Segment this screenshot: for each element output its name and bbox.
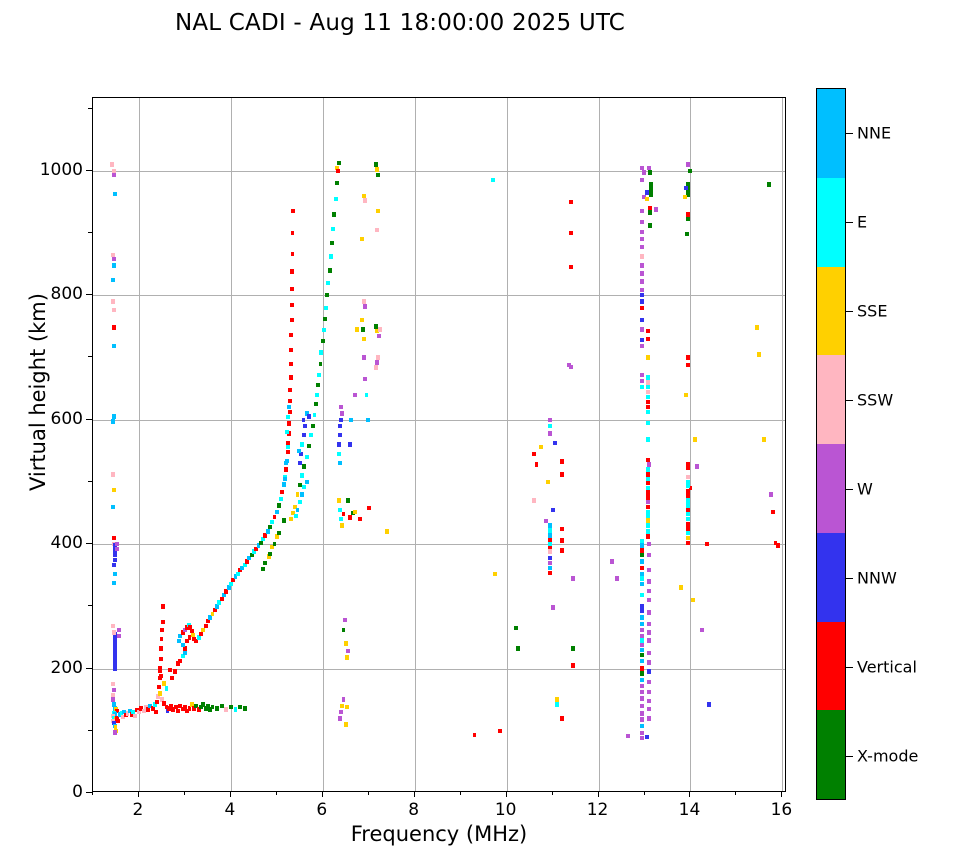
colorbar-tick xyxy=(846,222,853,223)
echo-point xyxy=(211,612,215,616)
echo-point xyxy=(555,697,559,701)
echo-point xyxy=(273,542,277,546)
y-tick xyxy=(86,543,92,544)
echo-point xyxy=(700,628,704,632)
echo-point xyxy=(610,559,614,563)
echo-point xyxy=(640,666,644,670)
x-tick-label: 14 xyxy=(659,800,719,820)
echo-point xyxy=(548,561,552,565)
echo-point xyxy=(769,492,773,496)
echo-point xyxy=(560,527,564,531)
echo-point xyxy=(686,212,690,216)
echo-point xyxy=(376,173,380,177)
echo-point xyxy=(771,510,775,514)
echo-point xyxy=(362,355,366,359)
echo-point xyxy=(254,547,258,551)
echo-point xyxy=(640,731,644,735)
echo-point xyxy=(313,413,317,417)
echo-point xyxy=(374,324,378,328)
echo-point xyxy=(113,572,117,576)
echo-point xyxy=(286,415,290,419)
x-tick-minor xyxy=(276,792,277,795)
echo-point xyxy=(362,337,366,341)
colorbar-tick xyxy=(846,133,853,134)
echo-point xyxy=(640,684,644,688)
echo-point xyxy=(683,195,687,199)
echo-point xyxy=(243,706,247,710)
echo-point xyxy=(647,589,651,593)
echo-point xyxy=(197,635,201,639)
echo-point xyxy=(288,410,292,414)
echo-point xyxy=(571,576,575,580)
echo-point xyxy=(544,519,548,523)
echo-point xyxy=(243,563,247,567)
echo-point xyxy=(640,230,644,234)
echo-point xyxy=(111,278,115,282)
echo-point xyxy=(532,498,536,502)
x-tick-minor xyxy=(184,792,185,795)
echo-point xyxy=(548,431,552,435)
echo-point xyxy=(112,173,116,177)
echo-point xyxy=(646,337,650,341)
echo-point xyxy=(640,671,644,675)
gridline-vertical xyxy=(323,98,324,791)
echo-point xyxy=(224,707,228,711)
echo-point xyxy=(684,393,688,397)
echo-point xyxy=(640,724,644,728)
echo-point xyxy=(289,333,293,337)
echo-point xyxy=(553,441,557,445)
echo-point xyxy=(208,615,212,619)
echo-point xyxy=(548,556,552,560)
echo-point xyxy=(686,363,690,367)
echo-point xyxy=(325,293,329,297)
echo-point xyxy=(640,306,644,310)
echo-point xyxy=(647,462,651,466)
echo-point xyxy=(337,442,341,446)
echo-point xyxy=(646,385,650,389)
echo-point xyxy=(345,655,349,659)
echo-point xyxy=(291,209,295,213)
echo-point xyxy=(640,293,644,297)
echo-point xyxy=(569,200,573,204)
echo-point xyxy=(162,681,166,685)
colorbar-segment-e xyxy=(817,178,845,267)
echo-point xyxy=(640,615,644,619)
echo-point xyxy=(645,197,649,201)
echo-point xyxy=(297,449,301,453)
echo-point xyxy=(340,411,344,415)
echo-point xyxy=(647,553,651,557)
x-tick xyxy=(138,792,139,797)
echo-point xyxy=(183,651,187,655)
echo-point xyxy=(640,593,644,597)
echo-point xyxy=(330,241,334,245)
x-tick-minor xyxy=(368,792,369,795)
echo-point xyxy=(282,518,286,522)
gridline-horizontal xyxy=(93,544,785,545)
echo-point xyxy=(111,419,115,423)
colorbar-segment-nnw xyxy=(817,533,845,622)
echo-point xyxy=(160,628,164,632)
echo-point xyxy=(289,362,293,366)
x-tick xyxy=(689,792,690,797)
echo-point xyxy=(266,529,270,533)
echo-point xyxy=(548,424,552,428)
y-tick-minor xyxy=(88,232,92,233)
echo-point xyxy=(250,553,254,557)
echo-point xyxy=(647,166,651,170)
echo-point xyxy=(157,685,161,689)
echo-point xyxy=(679,585,683,589)
gridline-horizontal xyxy=(93,171,785,172)
echo-point xyxy=(291,231,295,235)
colorbar-tick-label-ssw: SSW xyxy=(857,390,893,409)
y-tick-label: 600 xyxy=(51,409,83,429)
echo-point xyxy=(290,269,294,273)
echo-point xyxy=(263,561,267,565)
echo-point xyxy=(646,534,650,538)
echo-point xyxy=(646,523,650,527)
echo-point xyxy=(374,365,378,369)
echo-point xyxy=(686,512,690,516)
echo-point xyxy=(686,484,690,488)
echo-point xyxy=(113,730,117,734)
y-tick xyxy=(86,419,92,420)
echo-point xyxy=(275,534,279,538)
gridline-horizontal xyxy=(93,420,785,421)
echo-point xyxy=(647,660,651,664)
echo-point xyxy=(647,716,651,720)
echo-point xyxy=(548,523,552,527)
echo-point xyxy=(277,503,281,507)
colorbar-tick xyxy=(846,578,853,579)
echo-point xyxy=(366,418,370,422)
echo-point xyxy=(113,651,117,655)
echo-point xyxy=(112,308,116,312)
echo-point xyxy=(160,637,164,641)
echo-point xyxy=(640,711,644,715)
echo-point xyxy=(642,170,646,174)
echo-point xyxy=(165,686,169,690)
echo-point xyxy=(194,639,198,643)
echo-point xyxy=(647,690,651,694)
echo-point xyxy=(757,352,761,356)
echo-point xyxy=(317,373,321,377)
echo-point xyxy=(640,166,644,170)
echo-point xyxy=(215,604,219,608)
echo-point xyxy=(283,477,287,481)
echo-point xyxy=(155,700,159,704)
echo-point xyxy=(314,402,318,406)
echo-point xyxy=(340,704,344,708)
echo-point xyxy=(684,186,688,190)
echo-point xyxy=(181,643,185,647)
echo-point xyxy=(277,531,281,535)
echo-point xyxy=(640,696,644,700)
echo-point xyxy=(339,517,343,521)
echo-point xyxy=(362,194,366,198)
echo-point xyxy=(767,182,771,186)
echo-point xyxy=(178,659,182,663)
echo-point xyxy=(338,461,342,465)
echo-point xyxy=(342,628,346,632)
echo-point xyxy=(338,424,342,428)
echo-point xyxy=(220,704,224,708)
echo-point xyxy=(640,582,644,586)
echo-point xyxy=(117,634,121,638)
echo-point xyxy=(224,589,228,593)
x-tick xyxy=(598,792,599,797)
colorbar xyxy=(816,88,846,800)
echo-point xyxy=(649,187,653,191)
echo-point xyxy=(686,536,690,540)
echo-point xyxy=(345,705,349,709)
x-tick-label: 12 xyxy=(568,800,628,820)
echo-point xyxy=(229,582,233,586)
echo-point xyxy=(551,508,555,512)
echo-point xyxy=(111,624,115,628)
echo-point xyxy=(286,450,290,454)
echo-point xyxy=(375,360,379,364)
echo-point xyxy=(298,483,302,487)
echo-point xyxy=(363,304,367,308)
echo-point xyxy=(375,228,379,232)
echo-point xyxy=(640,736,644,740)
x-tick-label: 8 xyxy=(384,800,444,820)
echo-point xyxy=(648,170,652,174)
x-axis-label: Frequency (MHz) xyxy=(92,822,786,846)
echo-point xyxy=(686,493,690,497)
echo-point xyxy=(645,735,649,739)
echo-point xyxy=(111,472,115,476)
echo-point xyxy=(161,604,165,608)
echo-point xyxy=(112,488,116,492)
echo-point xyxy=(220,597,224,601)
echo-point xyxy=(298,461,302,465)
echo-point xyxy=(548,528,552,532)
echo-point xyxy=(307,414,311,418)
echo-point xyxy=(263,533,267,537)
echo-point xyxy=(342,512,346,516)
echo-point xyxy=(385,529,389,533)
x-tick xyxy=(506,792,507,797)
echo-point xyxy=(363,198,367,202)
echo-point xyxy=(647,680,651,684)
echo-point xyxy=(361,327,365,331)
echo-point xyxy=(365,393,369,397)
gridline-vertical xyxy=(231,98,232,791)
echo-point xyxy=(290,318,294,322)
echo-point xyxy=(647,630,651,634)
echo-point xyxy=(113,553,117,557)
echo-point xyxy=(649,192,653,196)
echo-point xyxy=(640,288,644,292)
x-tick-minor xyxy=(644,792,645,795)
echo-point xyxy=(646,421,650,425)
echo-point xyxy=(284,467,288,471)
y-axis-label: Virtual height (km) xyxy=(26,192,50,592)
echo-point xyxy=(626,734,630,738)
echo-point xyxy=(158,691,162,695)
echo-point xyxy=(290,303,294,307)
echo-point xyxy=(355,327,359,331)
echo-point xyxy=(646,355,650,359)
gridline-vertical xyxy=(599,98,600,791)
echo-point xyxy=(640,653,644,657)
echo-point xyxy=(217,600,221,604)
echo-point xyxy=(362,299,366,303)
echo-point xyxy=(615,576,619,580)
echo-point xyxy=(302,418,306,422)
plot-area xyxy=(92,97,786,792)
echo-point xyxy=(360,318,364,322)
echo-point xyxy=(110,162,114,166)
gridline-vertical xyxy=(690,98,691,791)
echo-point xyxy=(640,659,644,663)
echo-point xyxy=(514,626,518,630)
echo-point xyxy=(367,506,371,510)
echo-point xyxy=(199,632,203,636)
echo-point xyxy=(339,710,343,714)
echo-point xyxy=(303,424,307,428)
echo-point xyxy=(646,437,650,441)
echo-point xyxy=(111,682,115,686)
echo-point xyxy=(300,492,304,496)
y-tick-minor xyxy=(88,356,92,357)
echo-point xyxy=(374,162,378,166)
echo-point xyxy=(646,490,650,494)
echo-point xyxy=(268,525,272,529)
x-tick xyxy=(781,792,782,797)
echo-point xyxy=(338,716,342,720)
echo-point xyxy=(112,414,116,418)
echo-point xyxy=(646,500,650,504)
x-tick-label: 6 xyxy=(292,800,352,820)
echo-point xyxy=(335,181,339,185)
echo-point xyxy=(321,339,325,343)
echo-point xyxy=(491,178,495,182)
echo-point xyxy=(646,400,650,404)
colorbar-tick-label-sse: SSE xyxy=(857,301,887,320)
echo-point xyxy=(178,634,182,638)
echo-point xyxy=(206,619,210,623)
echo-point xyxy=(560,548,564,552)
echo-point xyxy=(646,505,650,509)
echo-point xyxy=(707,702,711,706)
echo-point xyxy=(346,498,350,502)
colorbar-tick-label-w: W xyxy=(857,479,873,498)
echo-point xyxy=(259,541,263,545)
colorbar-tick-label-vertical: Vertical xyxy=(857,657,917,676)
echo-point xyxy=(176,709,180,713)
echo-point xyxy=(112,344,116,348)
echo-point xyxy=(245,559,249,563)
y-tick xyxy=(86,170,92,171)
x-tick xyxy=(322,792,323,797)
echo-point xyxy=(548,533,552,537)
echo-point xyxy=(305,455,309,459)
echo-point xyxy=(686,517,690,521)
echo-point xyxy=(647,707,651,711)
echo-point xyxy=(647,579,651,583)
echo-point xyxy=(640,553,644,557)
echo-point xyxy=(213,608,217,612)
echo-point xyxy=(686,531,690,535)
echo-point xyxy=(686,162,690,166)
echo-point xyxy=(296,508,300,512)
echo-point xyxy=(647,622,651,626)
echo-point xyxy=(159,674,163,678)
echo-point xyxy=(647,610,651,614)
echo-point xyxy=(329,254,333,258)
echo-point xyxy=(686,541,690,545)
echo-point xyxy=(112,257,116,261)
echo-point xyxy=(294,514,298,518)
echo-point xyxy=(158,669,162,673)
echo-point xyxy=(159,646,163,650)
x-tick-label: 16 xyxy=(751,800,811,820)
echo-point xyxy=(762,437,766,441)
echo-point xyxy=(204,624,208,628)
echo-point xyxy=(142,709,146,713)
echo-point xyxy=(647,568,651,572)
echo-point xyxy=(339,418,343,422)
echo-point xyxy=(646,481,650,485)
echo-point xyxy=(516,646,520,650)
echo-point xyxy=(289,517,293,521)
echo-point xyxy=(201,628,205,632)
x-tick-label: 2 xyxy=(108,800,168,820)
echo-point xyxy=(571,663,575,667)
echo-point xyxy=(646,518,650,522)
echo-point xyxy=(363,377,367,381)
echo-point xyxy=(640,622,644,626)
echo-point xyxy=(548,566,552,570)
echo-point xyxy=(338,433,342,437)
echo-point xyxy=(287,405,291,409)
gridline-vertical xyxy=(415,98,416,791)
echo-point xyxy=(319,362,323,366)
echo-point xyxy=(640,385,644,389)
echo-point xyxy=(315,393,319,397)
echo-point xyxy=(693,437,697,441)
colorbar-segment-ssw xyxy=(817,355,845,444)
echo-point xyxy=(302,485,306,489)
x-tick-minor xyxy=(92,792,93,795)
echo-point xyxy=(640,178,644,182)
echo-point xyxy=(353,510,357,514)
echo-point xyxy=(305,480,309,484)
echo-point xyxy=(113,641,117,645)
colorbar-segment-w xyxy=(817,444,845,533)
gridline-vertical xyxy=(507,98,508,791)
y-tick-label: 800 xyxy=(51,284,83,304)
page-title: NAL CADI - Aug 11 18:00:00 2025 UTC xyxy=(0,10,800,36)
echo-point xyxy=(571,646,575,650)
y-tick xyxy=(86,792,92,793)
echo-point xyxy=(346,649,350,653)
colorbar-segment-sse xyxy=(817,267,845,356)
echo-point xyxy=(755,325,759,329)
echo-point xyxy=(326,281,330,285)
echo-point xyxy=(287,421,291,425)
echo-point xyxy=(275,510,279,514)
echo-point xyxy=(279,497,283,501)
echo-point xyxy=(376,355,380,359)
echo-point xyxy=(331,227,335,231)
y-tick-label: 200 xyxy=(51,658,83,678)
